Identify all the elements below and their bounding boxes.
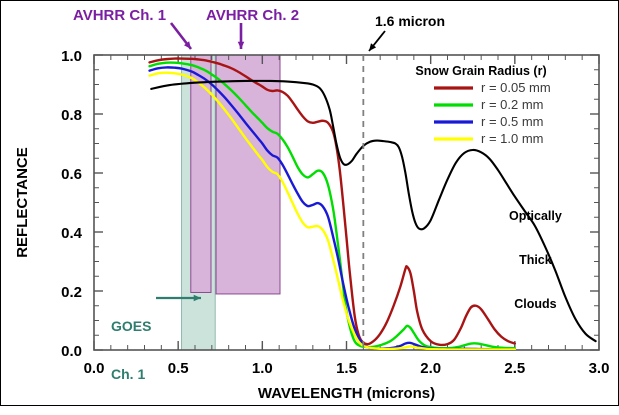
y-tick-label: 0.2 xyxy=(61,284,82,301)
legend-label: r = 1.0 mm xyxy=(481,131,544,146)
x-axis-title: WAVELENGTH (microns) xyxy=(258,385,435,402)
x-tick-label: 3.0 xyxy=(589,360,610,377)
avhrr-ch2-arrow-head xyxy=(238,42,245,49)
legend-title: Snow Grain Radius (r) xyxy=(415,64,546,78)
legend-label: r = 0.2 mm xyxy=(481,97,544,112)
spectral-bands-layer xyxy=(182,55,280,350)
goes-label-line2: Ch. 1 xyxy=(111,366,151,382)
clouds-label-line2: Thick xyxy=(509,253,562,268)
chart-legend: Snow Grain Radius (r)r = 0.05 mmr = 0.2 … xyxy=(415,64,550,146)
optically-thick-clouds-label: Optically Thick Clouds xyxy=(509,179,562,341)
x-tick-label: 0.5 xyxy=(168,360,189,377)
y-tick-label: 1.0 xyxy=(61,48,82,65)
x-tick-label: 1.0 xyxy=(252,360,273,377)
micron-label: 1.6 micron xyxy=(375,13,445,29)
avhrr-ch2-label: AVHRR Ch. 2 xyxy=(206,7,299,24)
chart-figure: 0.00.51.01.52.02.53.00.00.20.40.60.81.0W… xyxy=(0,0,619,406)
goes-ch1-label: GOES Ch. 1 xyxy=(111,286,151,415)
clouds-label-line3: Clouds xyxy=(509,297,562,312)
x-tick-label: 0.0 xyxy=(84,360,105,377)
y-axis-title: REFLECTANCE xyxy=(14,147,31,258)
y-tick-label: 0.0 xyxy=(61,343,82,360)
clouds-label-line1: Optically xyxy=(509,209,562,224)
avhrr-ch1-label: AVHRR Ch. 1 xyxy=(73,7,166,24)
y-tick-label: 0.6 xyxy=(61,166,82,183)
x-tick-label: 1.5 xyxy=(336,360,357,377)
goes-label-line1: GOES xyxy=(111,318,151,334)
y-tick-label: 0.4 xyxy=(61,225,83,242)
y-tick-label: 0.8 xyxy=(61,107,82,124)
legend-label: r = 0.5 mm xyxy=(481,114,544,129)
legend-label: r = 0.05 mm xyxy=(481,80,551,95)
x-tick-label: 2.5 xyxy=(504,360,525,377)
x-tick-label: 2.0 xyxy=(420,360,441,377)
